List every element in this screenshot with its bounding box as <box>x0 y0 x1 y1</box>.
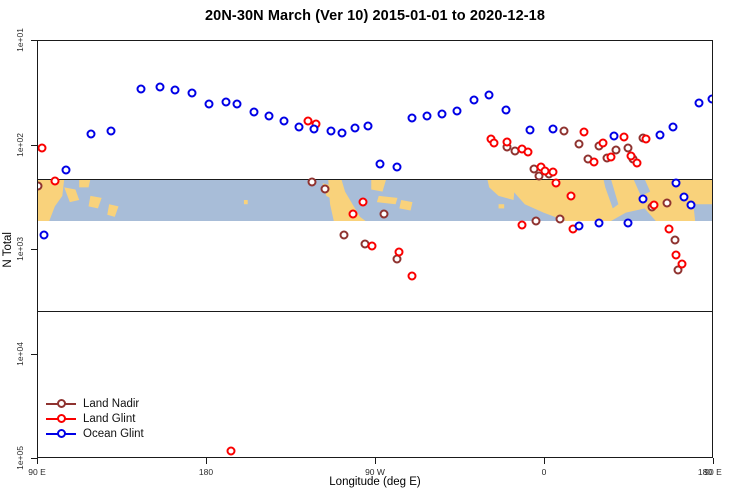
data-point-ocean-glint <box>422 112 431 121</box>
legend-item-land-nadir[interactable]: Land Nadir <box>44 396 144 411</box>
data-point-ocean-glint <box>233 99 242 108</box>
data-point-land-nadir <box>670 235 679 244</box>
data-point-land-glint <box>349 210 358 219</box>
data-point-ocean-glint <box>62 166 71 175</box>
legend-symbol <box>44 412 78 425</box>
data-point-ocean-glint <box>484 90 493 99</box>
data-point-ocean-glint <box>638 194 647 203</box>
y-tick-label: 1e+02 <box>15 133 25 157</box>
x-tick-mark <box>375 458 376 464</box>
data-point-land-glint <box>394 248 403 257</box>
data-point-ocean-glint <box>295 123 304 132</box>
data-point-ocean-glint <box>694 99 703 108</box>
data-point-land-glint <box>633 159 642 168</box>
data-point-ocean-glint <box>595 219 604 228</box>
data-point-land-glint <box>580 127 589 136</box>
x-tick-mark <box>544 458 545 464</box>
data-point-land-glint <box>567 191 576 200</box>
legend-symbol <box>44 397 78 410</box>
data-point-land-glint <box>524 148 533 157</box>
data-point-land-glint <box>50 176 59 185</box>
data-point-land-glint <box>368 241 377 250</box>
data-point-ocean-glint <box>171 85 180 94</box>
data-point-ocean-glint <box>623 219 632 228</box>
data-point-ocean-glint <box>392 163 401 172</box>
data-point-ocean-glint <box>672 178 681 187</box>
data-point-ocean-glint <box>204 99 213 108</box>
data-point-land-glint <box>548 167 557 176</box>
data-point-ocean-glint <box>452 106 461 115</box>
data-point-land-glint <box>227 446 236 455</box>
legend-item-land-glint[interactable]: Land Glint <box>44 411 144 426</box>
world-map-strip <box>38 179 712 221</box>
data-point-land-nadir <box>321 185 330 194</box>
x-tick-mark <box>37 458 38 464</box>
legend-item-ocean-glint[interactable]: Ocean Glint <box>44 426 144 441</box>
data-point-ocean-glint <box>137 84 146 93</box>
data-point-land-glint <box>619 133 628 142</box>
data-point-land-nadir <box>556 214 565 223</box>
data-point-ocean-glint <box>107 127 116 136</box>
data-point-land-nadir <box>574 139 583 148</box>
data-point-land-glint <box>642 134 651 143</box>
data-point-ocean-glint <box>338 128 347 137</box>
y-tick-label: 1e+01 <box>15 28 25 52</box>
data-point-ocean-glint <box>668 123 677 132</box>
x-tick-mark <box>713 458 714 464</box>
data-point-ocean-glint <box>655 131 664 140</box>
data-point-land-glint <box>38 143 46 152</box>
data-point-ocean-glint <box>310 124 319 133</box>
chart-canvas: 20N-30N March (Ver 10) 2015-01-01 to 202… <box>0 0 750 500</box>
x-axis-label: Longitude (deg E) <box>0 476 750 488</box>
data-point-land-nadir <box>379 210 388 219</box>
data-point-land-glint <box>407 272 416 281</box>
data-point-ocean-glint <box>86 129 95 138</box>
data-point-ocean-glint <box>687 200 696 209</box>
x-tick-mark <box>713 458 714 464</box>
legend-label: Land Glint <box>83 413 135 425</box>
data-point-ocean-glint <box>574 221 583 230</box>
legend-symbol <box>44 427 78 440</box>
data-point-land-glint <box>358 197 367 206</box>
data-point-ocean-glint <box>364 122 373 131</box>
data-point-land-nadir <box>340 230 349 239</box>
data-point-ocean-glint <box>407 113 416 122</box>
y-axis-label: N Total <box>2 0 14 500</box>
reference-line <box>38 311 712 312</box>
data-point-ocean-glint <box>249 107 258 116</box>
data-point-ocean-glint <box>264 112 273 121</box>
data-point-land-glint <box>518 220 527 229</box>
data-point-land-glint <box>503 138 512 147</box>
legend: Land NadirLand GlintOcean Glint <box>44 396 144 441</box>
data-point-ocean-glint <box>279 117 288 126</box>
data-point-ocean-glint <box>548 124 557 133</box>
band-top-line <box>38 179 712 180</box>
data-point-land-glint <box>672 250 681 259</box>
y-tick-label: 1e+03 <box>15 237 25 261</box>
data-point-ocean-glint <box>679 193 688 202</box>
data-point-ocean-glint <box>469 95 478 104</box>
data-point-ocean-glint <box>610 132 619 141</box>
data-point-land-glint <box>490 139 499 148</box>
data-point-ocean-glint <box>375 159 384 168</box>
data-point-land-nadir <box>559 126 568 135</box>
x-tick-mark <box>206 458 207 464</box>
data-point-land-nadir <box>531 216 540 225</box>
data-point-ocean-glint <box>187 88 196 97</box>
y-tick-mark <box>31 458 37 459</box>
plot-clip <box>38 41 712 457</box>
data-point-land-glint <box>664 224 673 233</box>
data-point-ocean-glint <box>437 110 446 119</box>
legend-label: Ocean Glint <box>83 428 144 440</box>
data-point-land-glint <box>599 138 608 147</box>
data-point-land-nadir <box>308 177 317 186</box>
data-point-land-glint <box>678 259 687 268</box>
chart-title: 20N-30N March (Ver 10) 2015-01-01 to 202… <box>0 8 750 24</box>
data-point-ocean-glint <box>501 105 510 114</box>
data-point-land-glint <box>649 200 658 209</box>
data-point-ocean-glint <box>708 94 712 103</box>
data-point-land-glint <box>606 152 615 161</box>
data-point-ocean-glint <box>326 126 335 135</box>
data-point-land-nadir <box>663 199 672 208</box>
data-point-ocean-glint <box>156 83 165 92</box>
data-point-ocean-glint <box>351 123 360 132</box>
data-point-land-glint <box>589 158 598 167</box>
data-point-ocean-glint <box>39 230 48 239</box>
y-tick-label: 1e+05 <box>15 446 25 470</box>
y-tick-label: 1e+04 <box>15 342 25 366</box>
data-point-ocean-glint <box>525 126 534 135</box>
data-point-ocean-glint <box>221 98 230 107</box>
data-point-land-glint <box>552 178 561 187</box>
legend-label: Land Nadir <box>83 398 139 410</box>
